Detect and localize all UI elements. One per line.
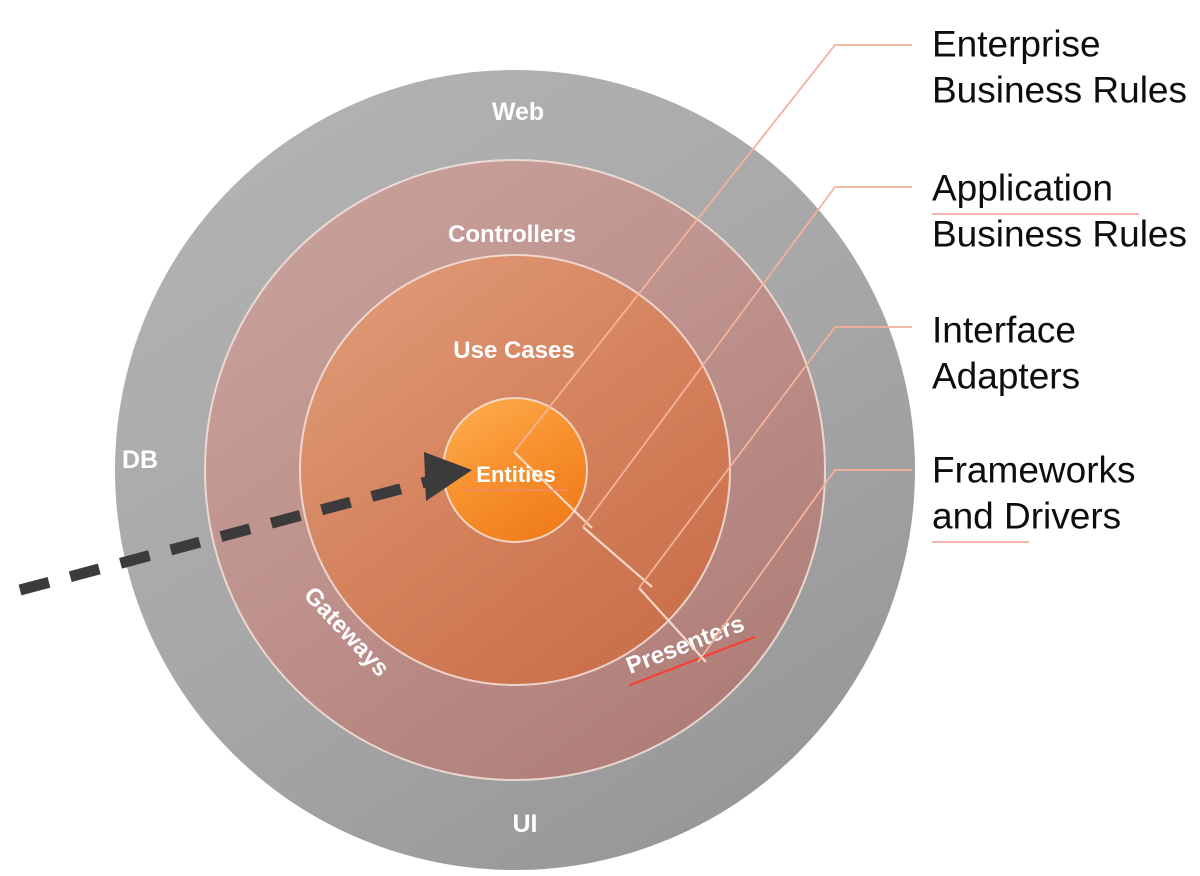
callout-frameworks-line-1: Frameworks <box>932 449 1136 490</box>
callout-application-line-1: Application <box>932 167 1113 208</box>
callout-interface-line-1: Interface <box>932 309 1076 350</box>
clean-architecture-diagram: Web DB UI Controllers Gateways Presenter… <box>0 0 1200 876</box>
entities-label-group: Entities <box>466 462 568 490</box>
callout-frameworks-and-drivers[interactable]: Frameworks and Drivers <box>932 449 1136 542</box>
callout-interface-adapters[interactable]: Interface Adapters <box>932 309 1080 396</box>
callout-interface-line-2: Adapters <box>932 355 1080 396</box>
ring-label-web: Web <box>492 98 544 126</box>
callout-enterprise-line-2: Business Rules <box>932 69 1187 110</box>
callout-enterprise-business-rules[interactable]: Enterprise Business Rules <box>932 23 1187 110</box>
ring-label-use-cases: Use Cases <box>453 337 574 364</box>
callout-application-line-2: Business Rules <box>932 213 1187 254</box>
ring-label-db: DB <box>122 446 158 474</box>
diagram-canvas: Web DB UI Controllers Gateways Presenter… <box>0 0 1200 876</box>
callout-application-business-rules[interactable]: Application Business Rules <box>932 167 1187 254</box>
callout-enterprise-line-1: Enterprise <box>932 23 1101 64</box>
ring-label-ui: UI <box>513 810 538 838</box>
ring-label-controllers: Controllers <box>448 221 576 248</box>
callout-frameworks-line-2: and Drivers <box>932 495 1121 536</box>
ring-label-entities: Entities <box>476 462 555 487</box>
